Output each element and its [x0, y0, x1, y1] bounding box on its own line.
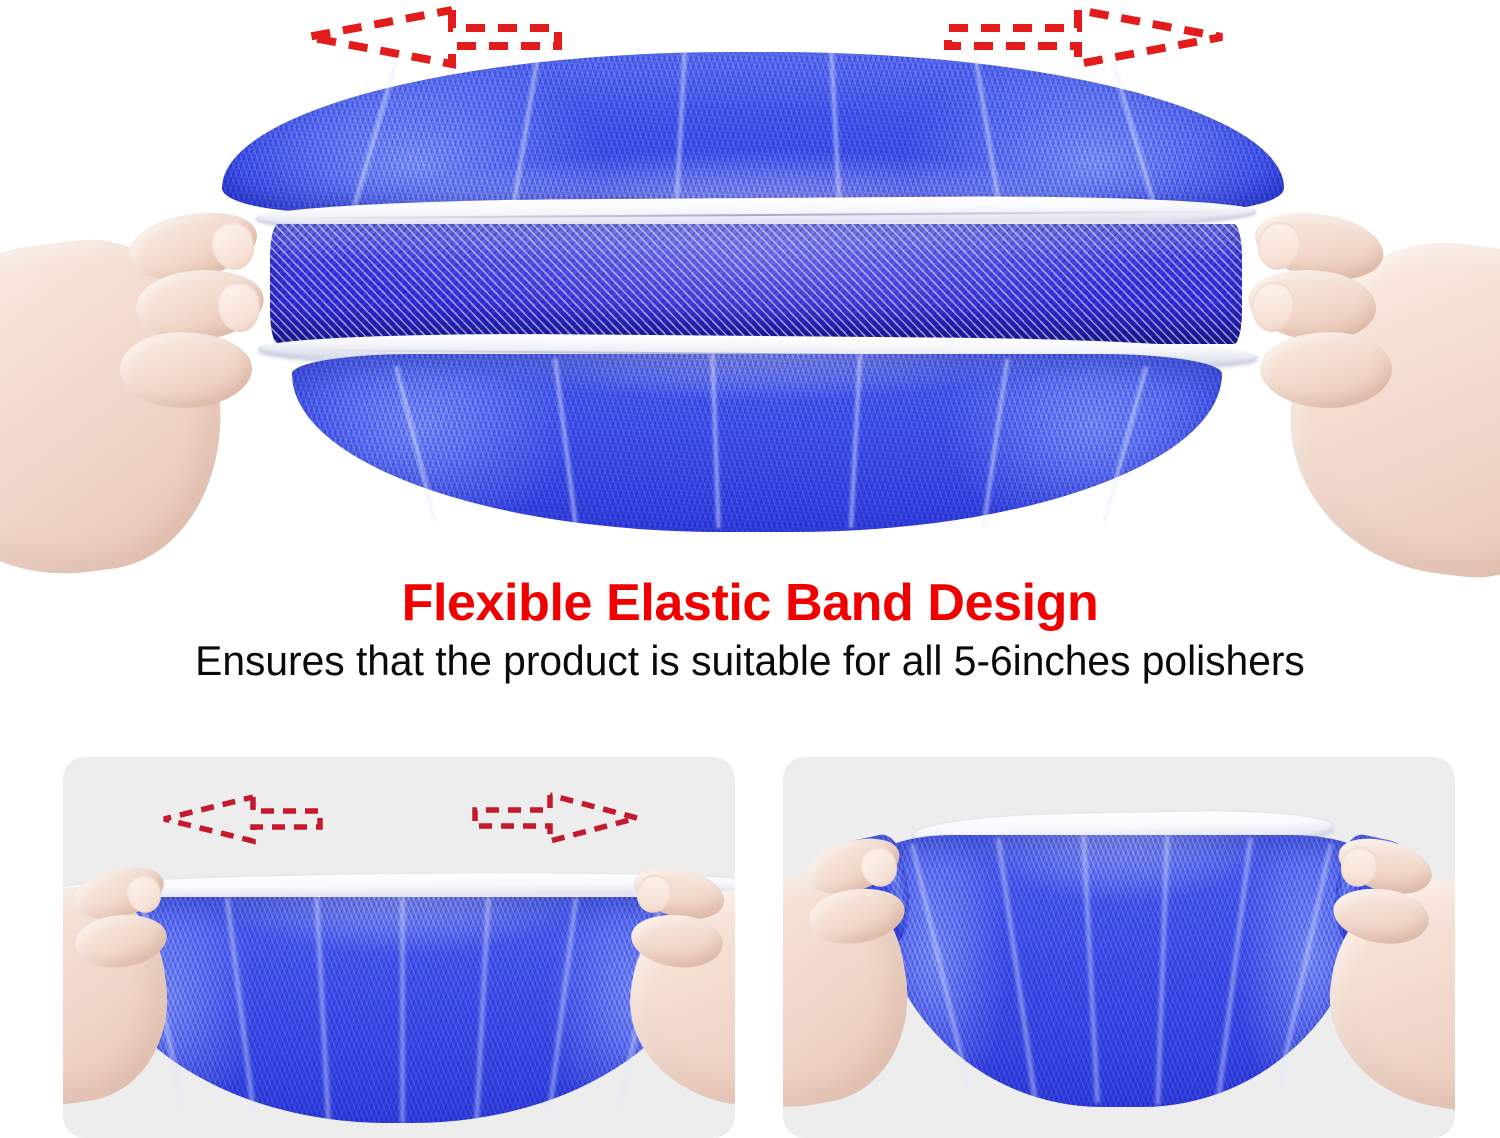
subheadline-text: Ensures that the product is suitable for… — [23, 638, 1478, 684]
polisher-bonnet-hero — [196, 52, 1306, 497]
terry-texture — [873, 835, 1371, 1107]
caption-block: Flexible Elastic Band Design Ensures tha… — [0, 576, 1500, 684]
product-feature-image: Flexible Elastic Band Design Ensures tha… — [0, 0, 1500, 1138]
hand-right — [1303, 835, 1455, 1115]
panel-relaxed-bonnet — [783, 757, 1455, 1138]
woven-mesh-backing — [270, 224, 1242, 344]
hand-left — [783, 835, 935, 1115]
panel-stretched-band — [63, 757, 735, 1138]
terry-texture — [222, 52, 1284, 212]
terry-fabric-bottom — [292, 354, 1222, 532]
bonnet-body-relaxed — [873, 835, 1371, 1107]
hand-right — [1212, 178, 1500, 585]
hand-left — [63, 861, 197, 1111]
hand-right — [601, 861, 735, 1111]
hero-image — [0, 0, 1500, 585]
arrow-right-dashed-icon — [470, 789, 642, 847]
hand-left — [0, 178, 290, 585]
terry-fabric-top — [222, 52, 1284, 212]
arrow-left-dashed-icon — [159, 791, 325, 847]
headline-text: Flexible Elastic Band Design — [0, 576, 1500, 631]
